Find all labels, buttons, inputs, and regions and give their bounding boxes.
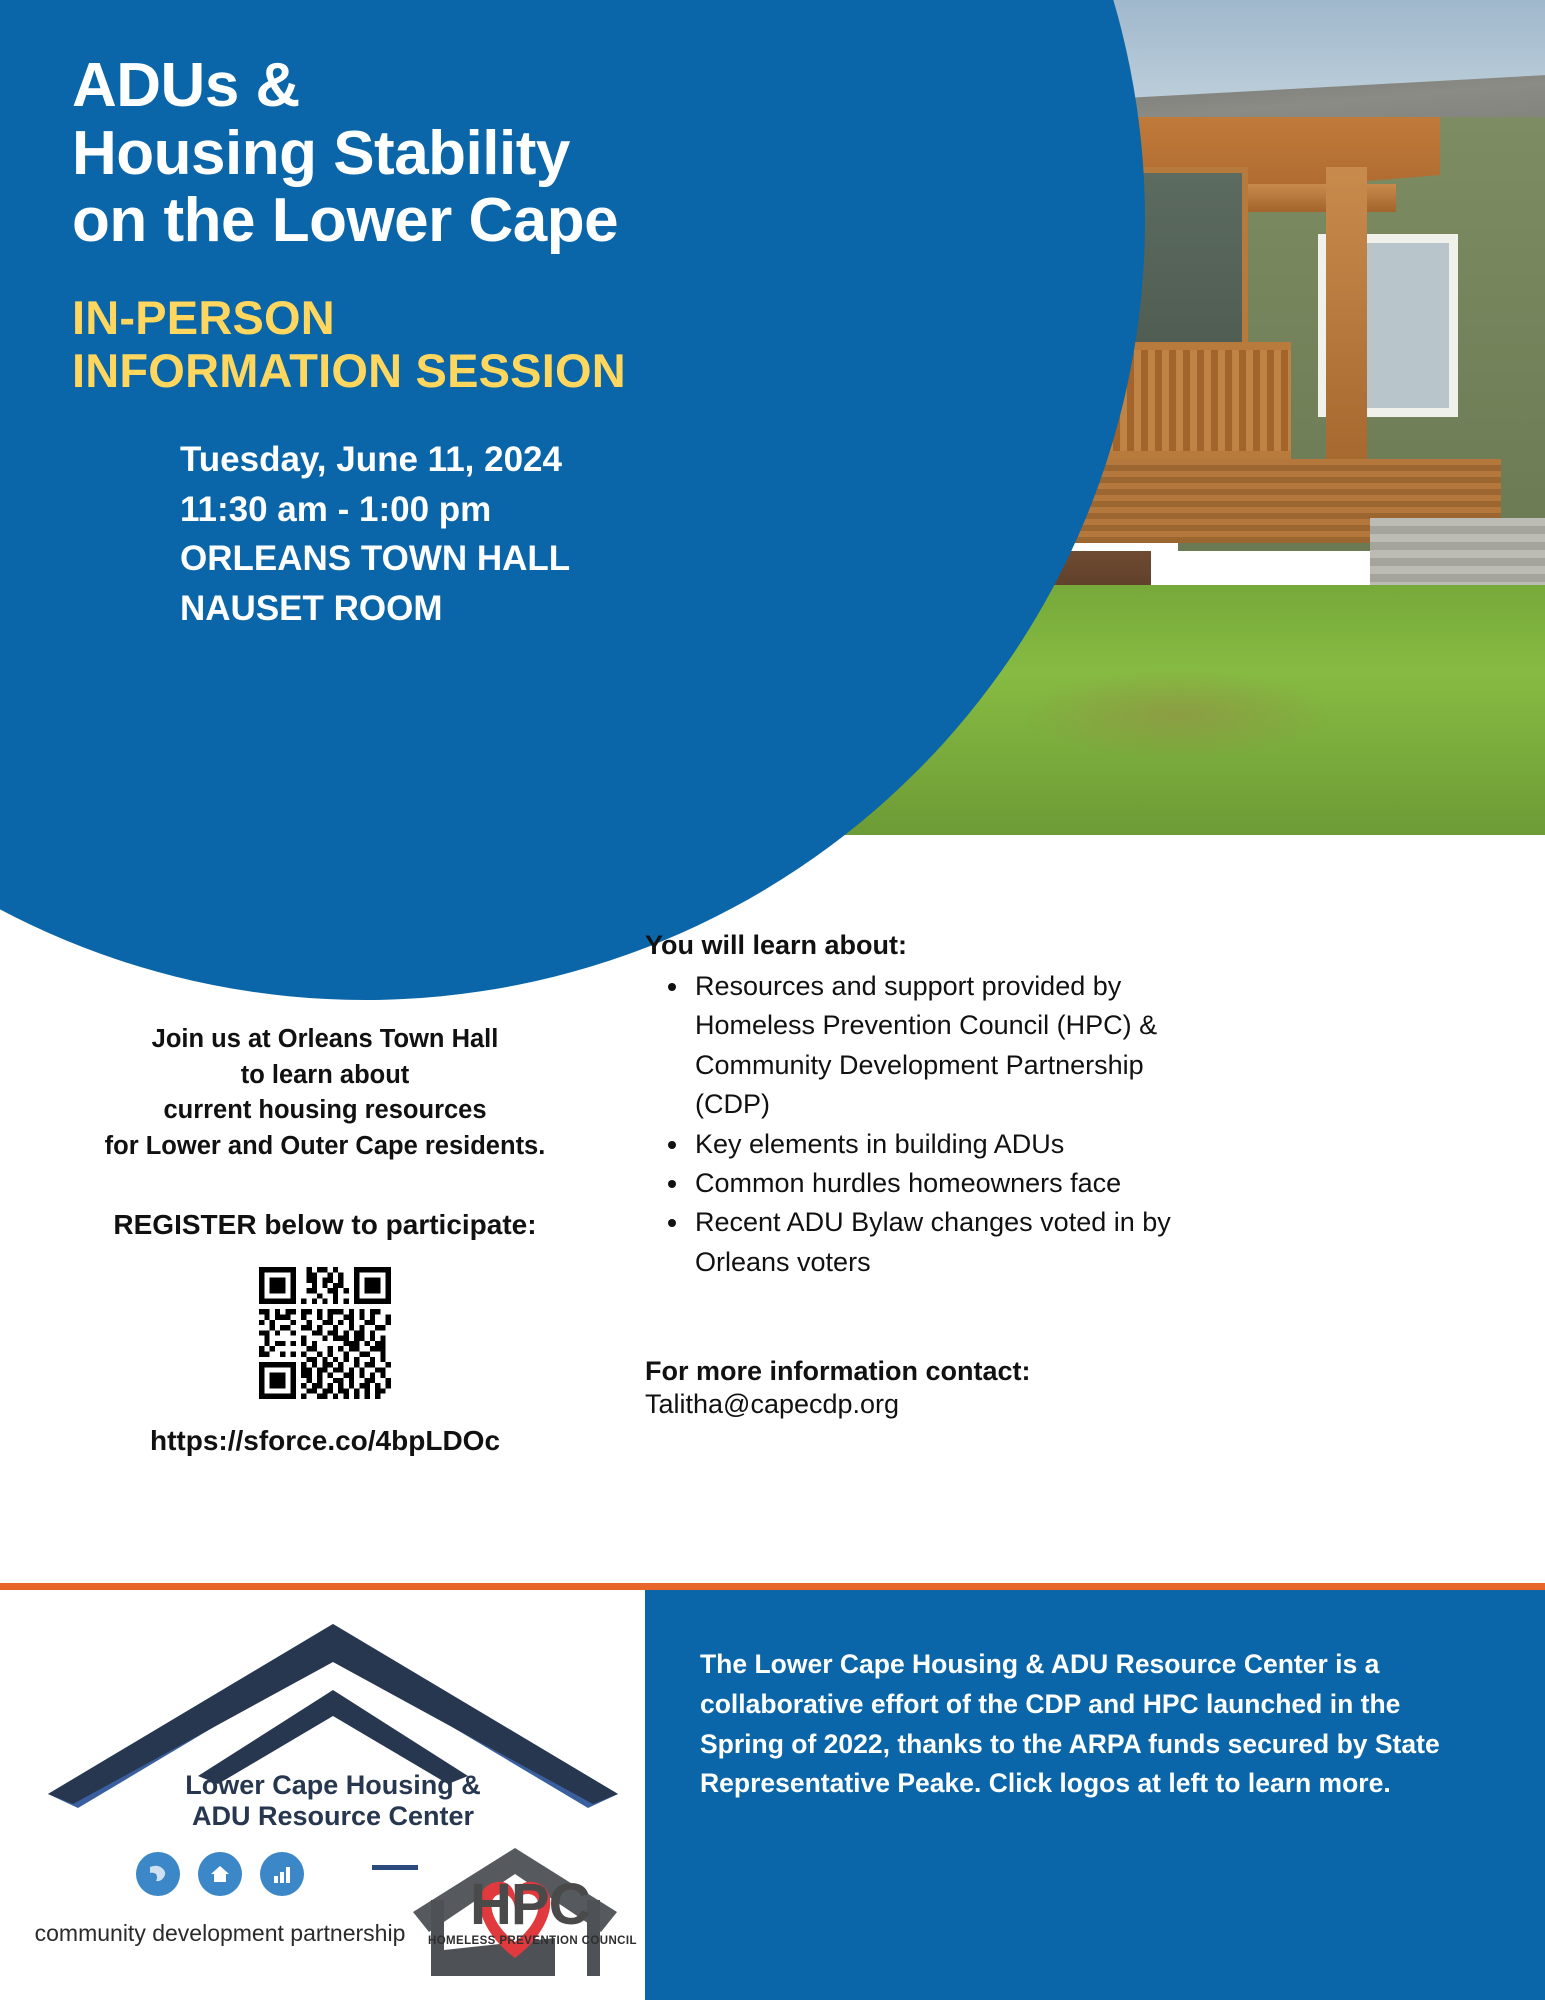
cdp-tagline: community development partnership [20, 1920, 420, 1947]
flyer-poster: ADUs & Housing Stability on the Lower Ca… [0, 0, 1545, 2000]
header-block: ADUs & Housing Stability on the Lower Ca… [72, 52, 792, 634]
page-title: ADUs & Housing Stability on the Lower Ca… [72, 52, 792, 255]
session-type-label: IN-PERSON INFORMATION SESSION [72, 291, 792, 397]
footer-logos-panel: Lower Cape Housing & ADU Resource Center [0, 1590, 645, 2000]
learn-about-heading: You will learn about: [645, 930, 1205, 961]
about-panel-text: The Lower Cape Housing & ADU Resource Ce… [645, 1590, 1545, 1804]
resource-center-name: Lower Cape Housing & ADU Resource Center [48, 1770, 618, 1833]
bar-chart-icon [260, 1852, 304, 1896]
list-item: Key elements in building ADUs [691, 1125, 1205, 1164]
footer: Lower Cape Housing & ADU Resource Center [0, 1590, 1545, 2000]
about-panel: The Lower Cape Housing & ADU Resource Ce… [645, 1590, 1545, 2000]
house-icon [198, 1852, 242, 1896]
registration-url[interactable]: https://sforce.co/4bpLDOc [20, 1425, 630, 1457]
photo-lawn-patch [1020, 668, 1335, 760]
left-column: Join us at Orleans Town Hall to learn ab… [20, 1022, 630, 1457]
list-item: Resources and support provided by Homele… [691, 967, 1205, 1125]
list-item: Common hurdles homeowners face [691, 1164, 1205, 1203]
cape-cod-map-icon [136, 1852, 180, 1896]
cdp-icon-row [20, 1852, 420, 1896]
hpc-wordmark: HPC [470, 1871, 589, 1938]
contact-email[interactable]: Talitha@capecdp.org [645, 1389, 1205, 1420]
qr-code-wrapper[interactable] [20, 1267, 630, 1399]
hpc-subtitle: HOMELESS PREVENTION COUNCIL [428, 1935, 637, 1947]
photo-porch-post-right [1326, 167, 1366, 501]
learn-about-list: Resources and support provided by Homele… [645, 967, 1205, 1282]
right-column: You will learn about: Resources and supp… [645, 930, 1205, 1420]
join-invitation-text: Join us at Orleans Town Hall to learn ab… [20, 1022, 630, 1165]
contact-heading: For more information contact: [645, 1356, 1205, 1387]
qr-code-icon[interactable] [259, 1267, 391, 1399]
event-details: Tuesday, June 11, 2024 11:30 am - 1:00 p… [180, 435, 792, 634]
list-item: Recent ADU Bylaw changes voted in by Orl… [691, 1203, 1205, 1282]
register-callout: REGISTER below to participate: [20, 1209, 630, 1241]
cdp-logo[interactable]: community development partnership [20, 1852, 420, 1947]
orange-divider [0, 1583, 1545, 1590]
contact-block: For more information contact: Talitha@ca… [645, 1356, 1205, 1420]
